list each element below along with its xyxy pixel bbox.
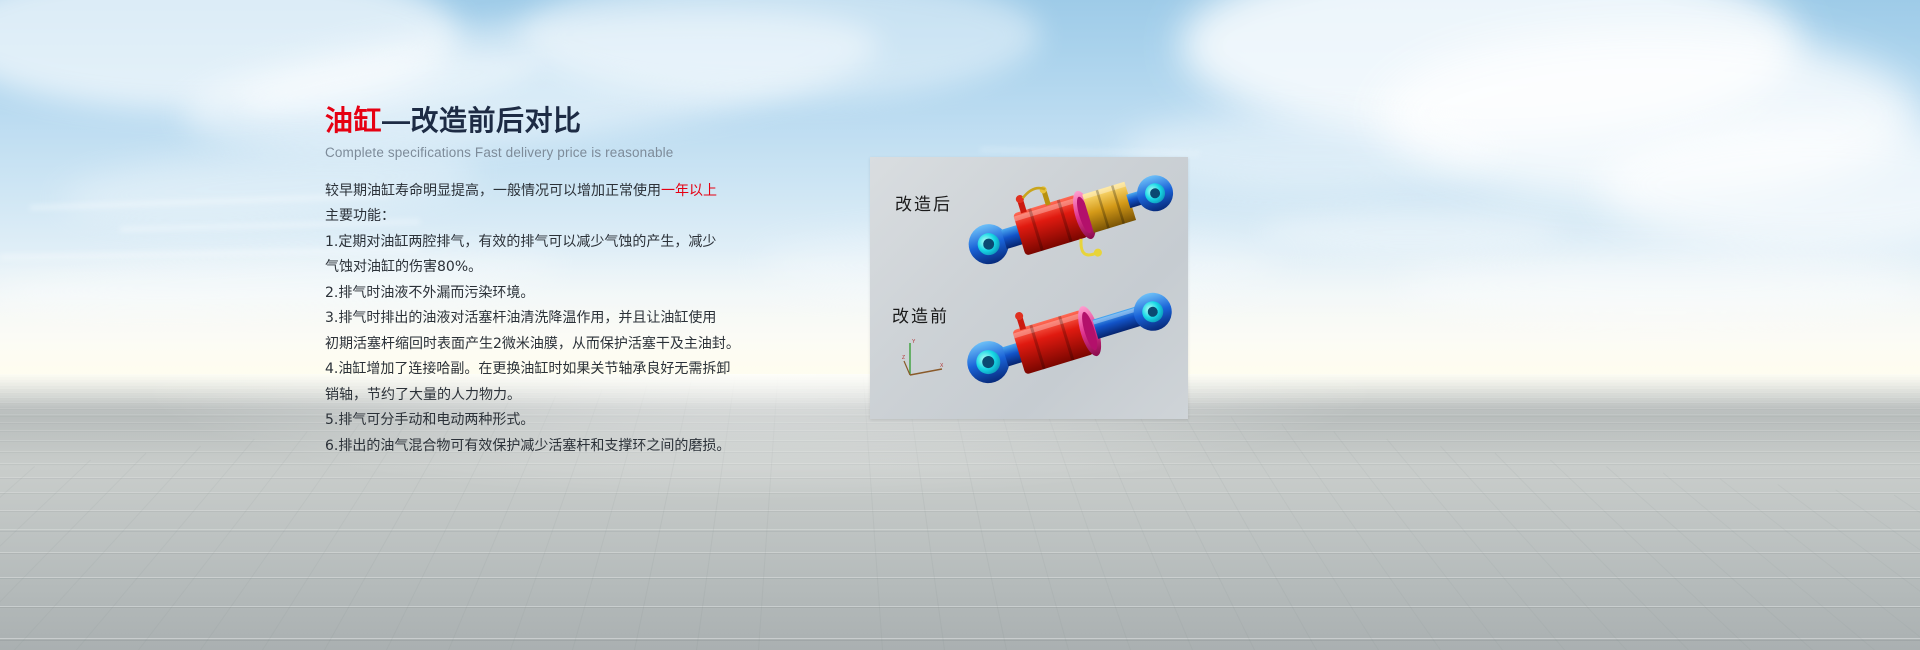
axis-triad-icon: Y X Z (902, 335, 948, 381)
svg-text:X: X (940, 363, 944, 369)
cylinder-render-after (965, 169, 1180, 284)
body-text-line: 5.排气可分手动和电动两种形式。 (325, 408, 845, 434)
svg-text:Y: Y (912, 339, 916, 345)
body-text-line-main: 较早期油缸寿命明显提高，一般情况可以增加正常使用 (325, 183, 661, 199)
body-text-accent: 一年以上 (661, 183, 717, 199)
body-text-line: 较早期油缸寿命明显提高，一般情况可以增加正常使用一年以上 (325, 179, 845, 205)
body-text-line: 销轴，节约了大量的人力物力。 (325, 383, 845, 409)
title-rest: —改造前后对比 (382, 105, 582, 136)
cloud-shape (1260, 210, 1560, 254)
body-text-line-main: 3.排气时排出的油液对活塞杆油清洗降温作用，并且让油缸使用 (325, 310, 716, 326)
body-text: 较早期油缸寿命明显提高，一般情况可以增加正常使用一年以上主要功能：1.定期对油缸… (325, 179, 845, 460)
svg-text:Z: Z (902, 355, 905, 361)
body-text-line: 4.油缸增加了连接哈副。在更换油缸时如果关节轴承良好无需拆卸 (325, 357, 845, 383)
body-text-line: 6.排出的油气混合物可有效保护减少活塞杆和支撑环之间的磨损。 (325, 434, 845, 460)
body-text-line-main: 销轴，节约了大量的人力物力。 (325, 387, 521, 403)
body-text-line: 气蚀对油缸的伤害80%。 (325, 255, 845, 281)
cylinder-render-before (962, 282, 1180, 402)
banner-content: 油缸—改造前后对比 Complete specifications Fast d… (325, 104, 845, 459)
body-text-line: 初期活塞杆缩回时表面产生2微米油膜，从而保护活塞干及主油封。 (325, 332, 845, 358)
body-text-line-main: 初期活塞杆缩回时表面产生2微米油膜，从而保护活塞干及主油封。 (325, 336, 740, 352)
body-text-line-main: 5.排气可分手动和电动两种形式。 (325, 412, 534, 428)
product-image-panel: 改造后 改造前 (870, 157, 1188, 419)
page-title: 油缸—改造前后对比 (325, 104, 845, 138)
body-text-line-main: 4.油缸增加了连接哈副。在更换油缸时如果关节轴承良好无需拆卸 (325, 361, 730, 377)
title-highlight: 油缸 (325, 105, 382, 136)
body-text-line-main: 2.排气时油液不外漏而污染环境。 (325, 285, 534, 301)
body-text-line: 主要功能： (325, 204, 845, 230)
label-before-modification: 改造前 (892, 302, 949, 327)
page-subtitle: Complete specifications Fast delivery pr… (325, 145, 845, 160)
hero-banner: 油缸—改造前后对比 Complete specifications Fast d… (0, 0, 1920, 650)
body-text-line: 2.排气时油液不外漏而污染环境。 (325, 281, 845, 307)
body-text-line: 1.定期对油缸两腔排气，有效的排气可以减少气蚀的产生，减少 (325, 230, 845, 256)
body-text-line-main: 气蚀对油缸的伤害80%。 (325, 259, 482, 275)
label-after-modification: 改造后 (895, 190, 952, 215)
body-text-line-main: 主要功能： (325, 208, 395, 224)
body-text-line: 3.排气时排出的油液对活塞杆油清洗降温作用，并且让油缸使用 (325, 306, 845, 332)
body-text-line-main: 1.定期对油缸两腔排气，有效的排气可以减少气蚀的产生，减少 (325, 234, 716, 250)
body-text-line-main: 6.排出的油气混合物可有效保护减少活塞杆和支撑环之间的磨损。 (325, 438, 730, 454)
